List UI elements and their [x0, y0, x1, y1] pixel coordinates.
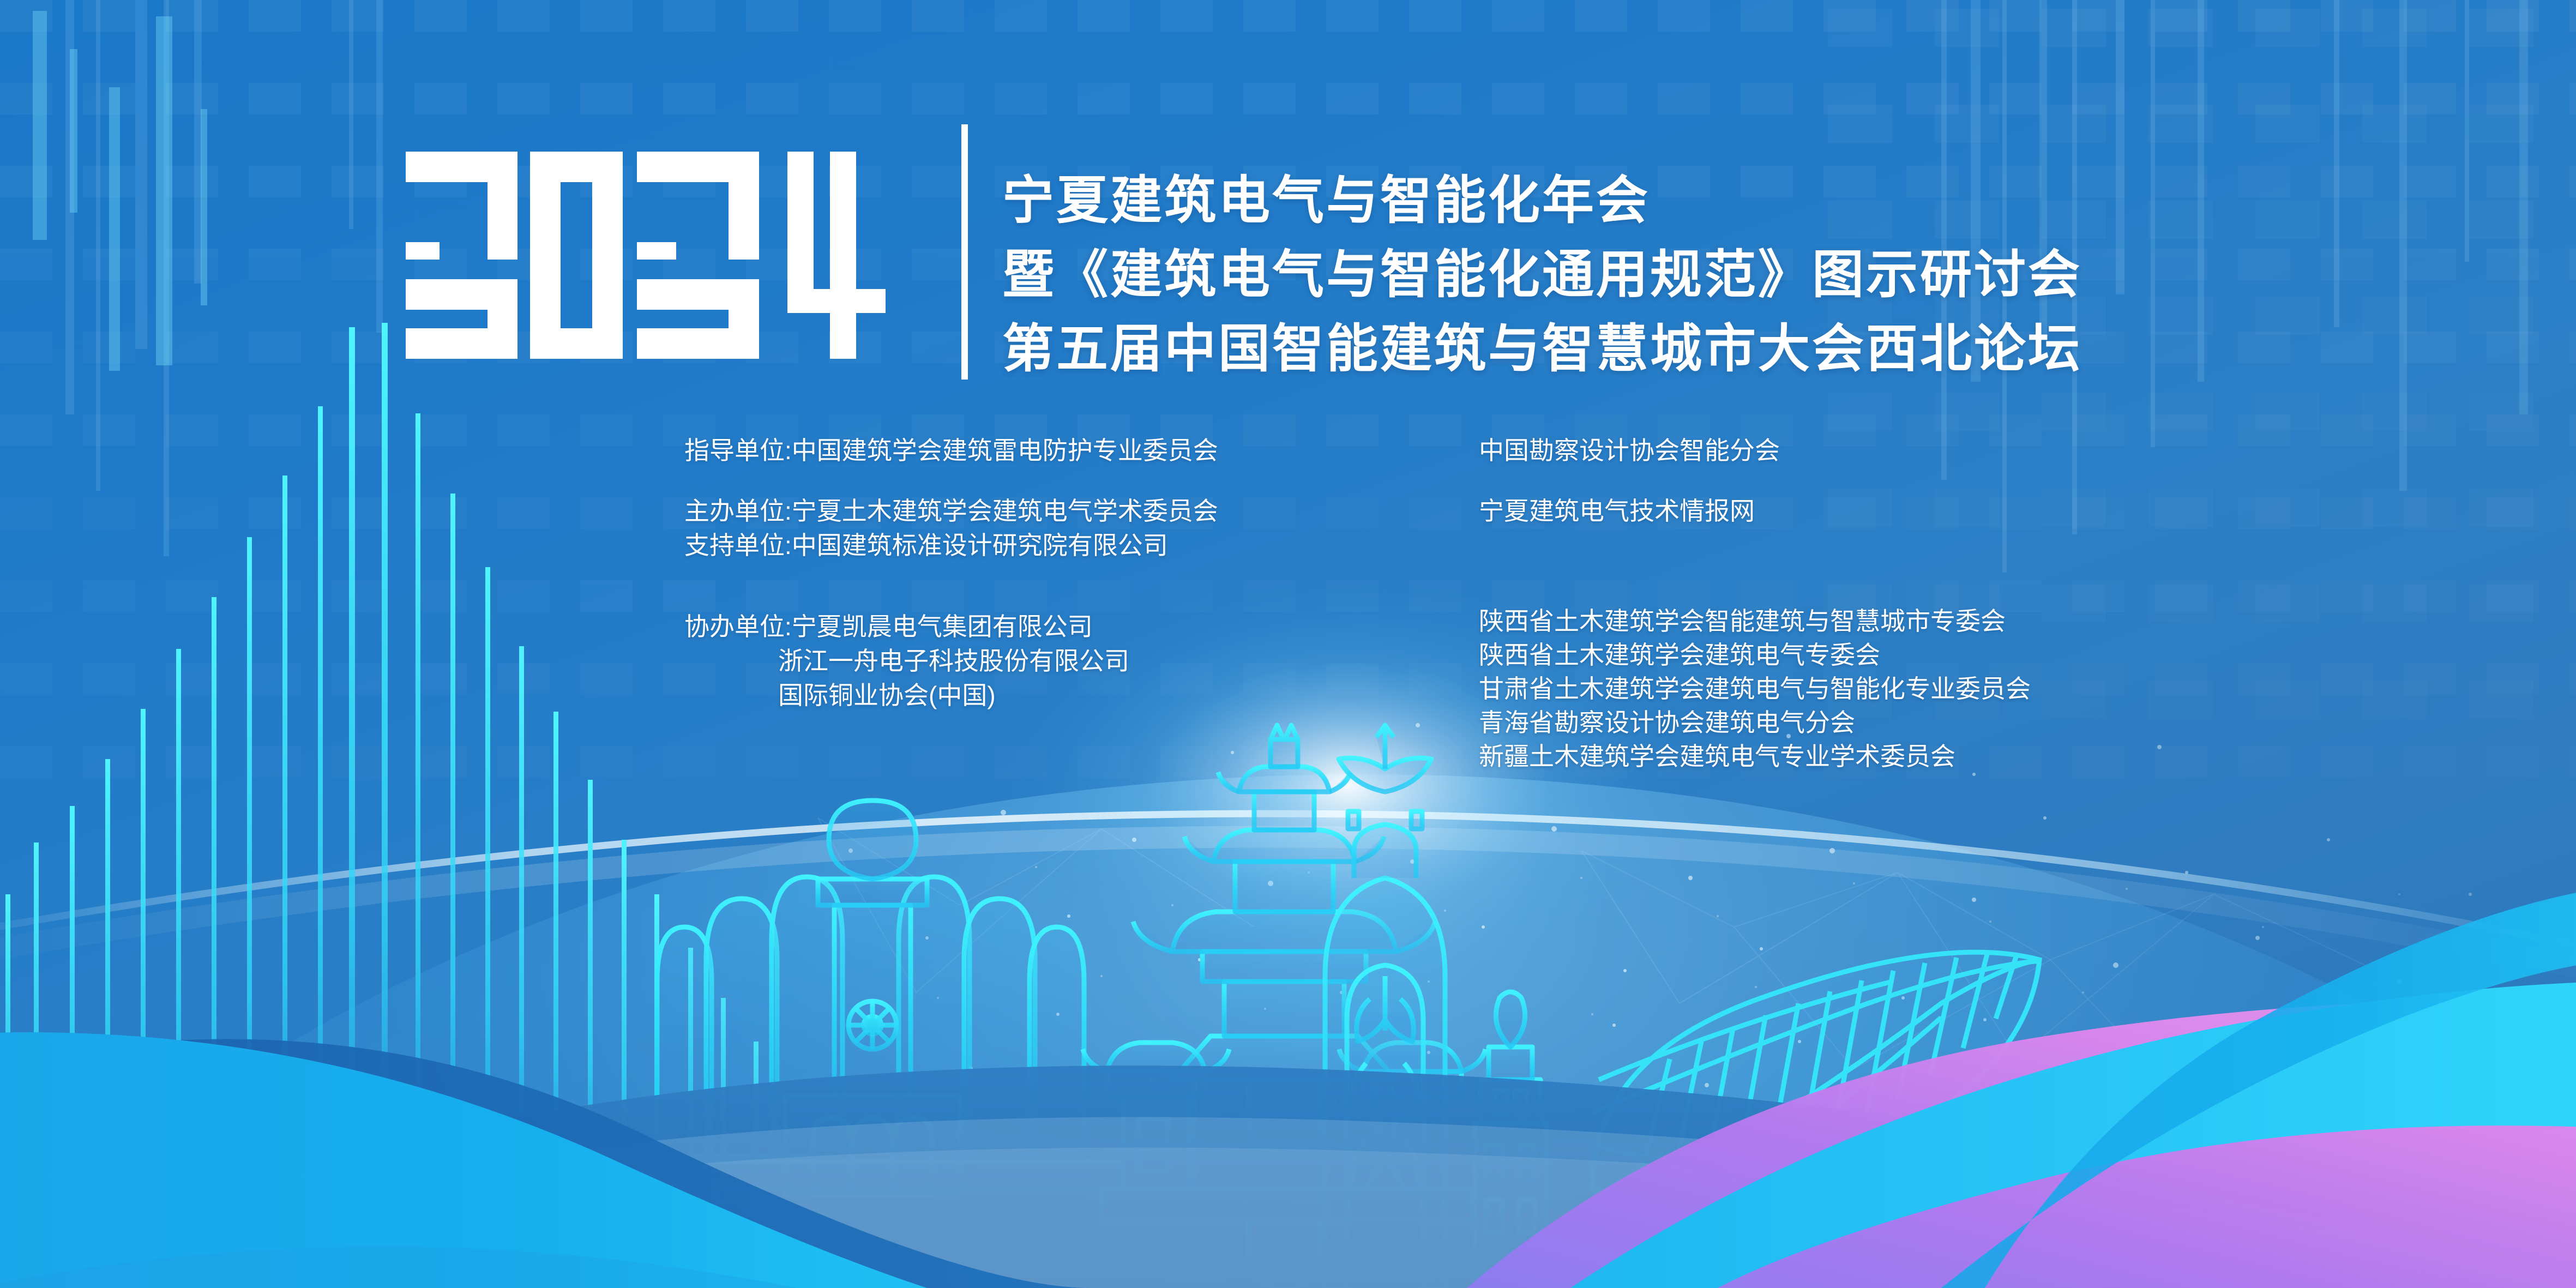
org-line-guidance-2: 中国勘察设计协会智能分会: [1479, 434, 2297, 468]
org-line-guidance: 指导单位:中国建筑学会建筑雷电防护专业委员会: [684, 434, 1448, 468]
org-left-top-column: 指导单位:中国建筑学会建筑雷电防护专业委员会 主办单位:宁夏土木建筑学会建筑电气…: [684, 434, 1448, 563]
org-line-coorg-1: 协办单位:宁夏凯晨电气集团有限公司: [684, 610, 1448, 644]
org-line-coorg-2: 浙江一舟电子科技股份有限公司: [684, 644, 1448, 678]
org-right-top-column: 中国勘察设计协会智能分会 宁夏建筑电气技术情报网: [1479, 434, 2297, 528]
org-line-host-2: 宁夏建筑电气技术情报网: [1479, 494, 2297, 528]
org-right-bottom-column: 陕西省土木建筑学会智能建筑与智慧城市专委会 陕西省土木建筑学会建筑电气专委会 甘…: [1479, 604, 2515, 773]
org-line-shaanxi-smart: 陕西省土木建筑学会智能建筑与智慧城市专委会: [1479, 604, 2515, 638]
conference-banner: 宁夏建筑电气与智能化年会 暨《建筑电气与智能化通用规范》图示研讨会 第五届中国智…: [0, 0, 2576, 1288]
org-line-coorg-3: 国际铜业协会(中国): [684, 678, 1448, 713]
org-line-support: 支持单位:中国建筑标准设计研究院有限公司: [684, 528, 1448, 563]
organizations: 指导单位:中国建筑学会建筑雷电防护专业委员会 主办单位:宁夏土木建筑学会建筑电气…: [0, 0, 2576, 1288]
org-left-bottom-column: 协办单位:宁夏凯晨电气集团有限公司 浙江一舟电子科技股份有限公司 国际铜业协会(…: [684, 610, 1448, 713]
org-line-gansu: 甘肃省土木建筑学会建筑电气与智能化专业委员会: [1479, 672, 2515, 706]
org-line-qinghai: 青海省勘察设计协会建筑电气分会: [1479, 706, 2515, 739]
org-line-host: 主办单位:宁夏土木建筑学会建筑电气学术委员会: [684, 494, 1448, 528]
org-line-xinjiang: 新疆土木建筑学会建筑电气专业学术委员会: [1479, 739, 2515, 773]
org-line-shaanxi-electric: 陕西省土木建筑学会建筑电气专委会: [1479, 638, 2515, 672]
